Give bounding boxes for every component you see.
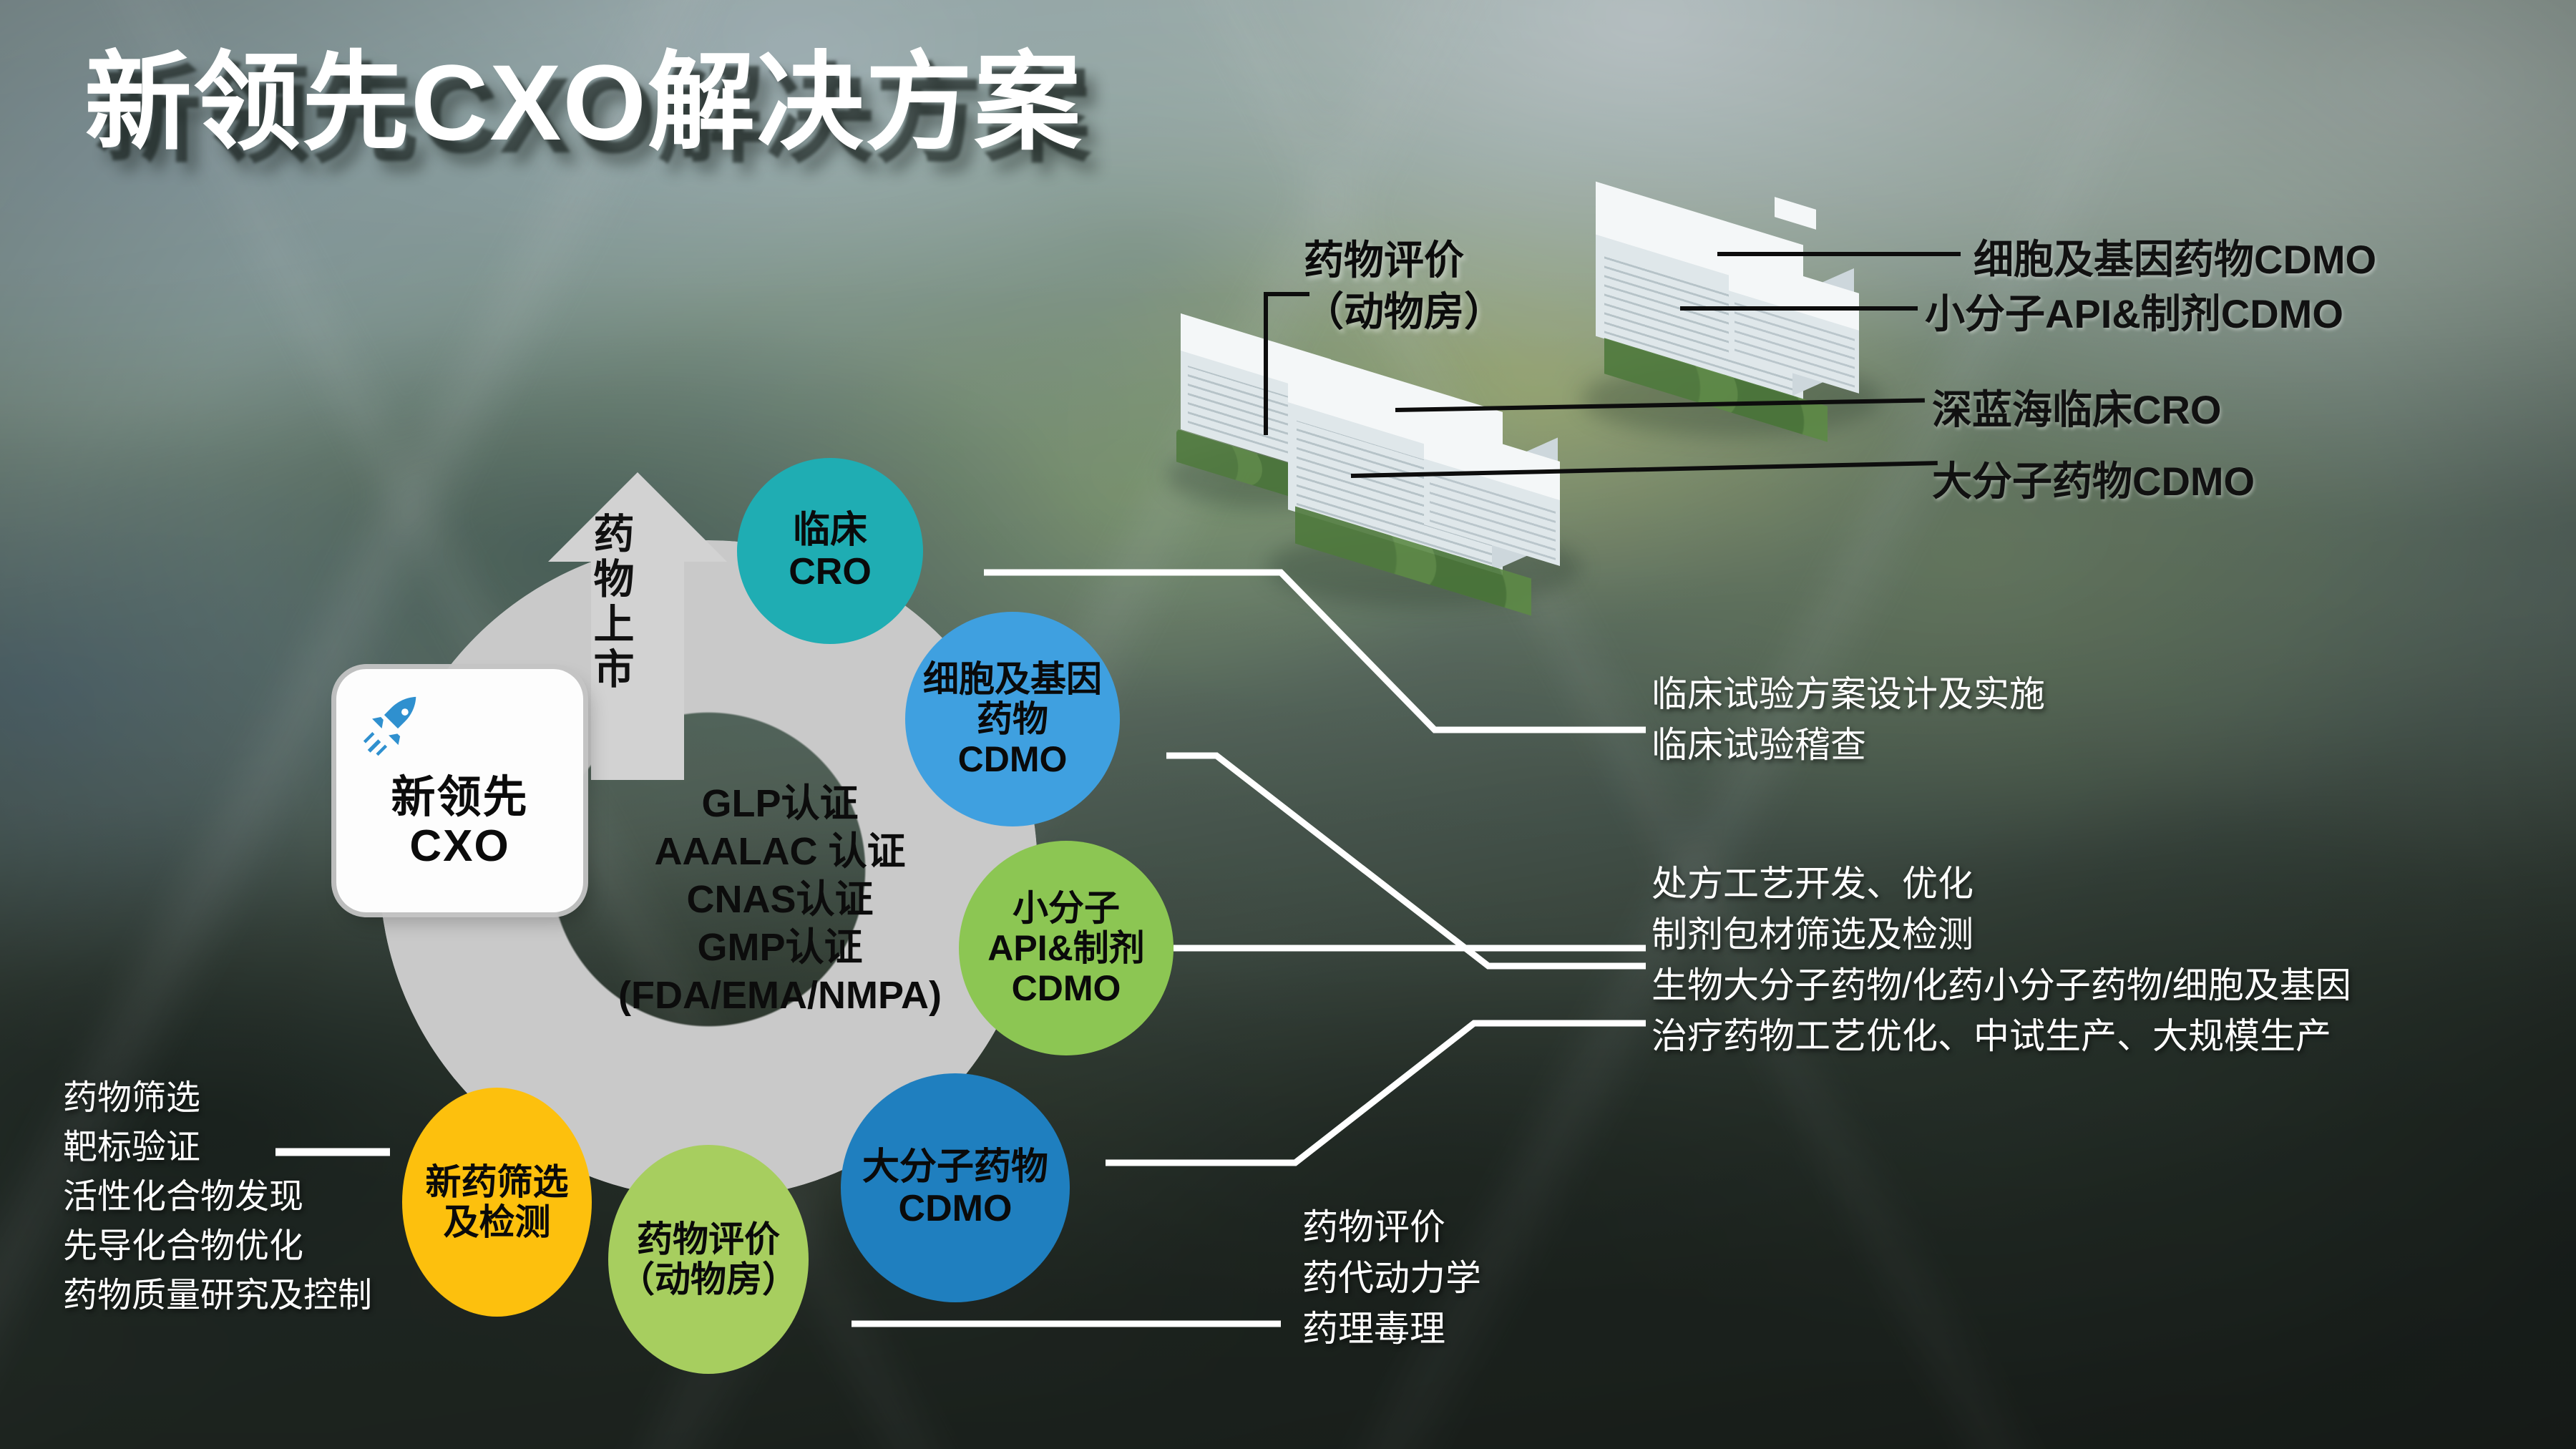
right-detail-cdmo: 处方工艺开发、优化 制剂包材筛选及检测 生物大分子药物/化药小分子药物/细胞及基…	[1652, 859, 2553, 1062]
bubble-label: 临床 CRO	[789, 509, 872, 592]
photo-label-clinical-cro: 深蓝海临床CRO	[1932, 378, 2221, 436]
bubble-clinical-cro[interactable]: 临床 CRO	[737, 458, 923, 644]
center-brand-card[interactable]: 新领先 CXO	[336, 669, 583, 912]
bubble-large-molecule-cdmo[interactable]: 大分子药物 CDMO	[841, 1073, 1070, 1302]
rocket-icon	[359, 691, 426, 758]
callout-line-small-molecule	[1680, 306, 1918, 311]
brand-name-en: CXO	[336, 821, 583, 872]
building-render-cdmo	[1560, 208, 1918, 444]
right-detail-evaluation: 药物评价 药代动力学 药理毒理	[1302, 1202, 1803, 1355]
photo-label-small-molecule-cdmo: 小分子API&制剂CDMO	[1925, 282, 2343, 340]
right-detail-clinical: 临床试验方案设计及实施 临床试验稽查	[1652, 669, 2539, 771]
bubble-label: 新药筛选 及检测	[426, 1162, 569, 1242]
photo-label-large-molecule-cdmo: 大分子药物CDMO	[1932, 449, 2255, 507]
animal-house-bracket-horizontal	[1264, 292, 1309, 296]
bubble-cell-gene-cdmo[interactable]: 细胞及基因 药物 CDMO	[905, 612, 1120, 826]
brand-name-cn: 新领先	[336, 761, 583, 825]
callout-line-cell-gene	[1717, 252, 1961, 256]
bubble-new-drug-screening[interactable]: 新药筛选 及检测	[402, 1088, 592, 1317]
page-title: 新领先CXO解决方案	[84, 49, 1083, 156]
photo-label-animal-house: 药物评价 （动物房）	[1304, 235, 1504, 337]
animal-house-bracket-vertical	[1264, 292, 1268, 435]
photo-label-cell-gene-cdmo: 细胞及基因药物CDMO	[1974, 228, 2376, 286]
bubble-label: 小分子 API&制剂 CDMO	[987, 888, 1144, 1008]
certification-list: GLP认证 AAALAC 认证 CNAS认证 GMP认证 (FDA/EMA/NM…	[594, 780, 966, 1020]
bubble-label: 细胞及基因 药物 CDMO	[923, 659, 1102, 779]
bubble-drug-evaluation[interactable]: 药物评价 （动物房）	[608, 1145, 809, 1374]
bubble-label: 药物评价 （动物房）	[619, 1219, 798, 1299]
poster-canvas: 新领先CXO解决方案 药物评价 （动物房）	[0, 0, 2576, 1449]
bubble-small-molecule-cdmo[interactable]: 小分子 API&制剂 CDMO	[959, 841, 1174, 1055]
cycle-arrow-label: 药物上市	[588, 512, 634, 693]
bubble-label: 大分子药物 CDMO	[862, 1146, 1048, 1229]
